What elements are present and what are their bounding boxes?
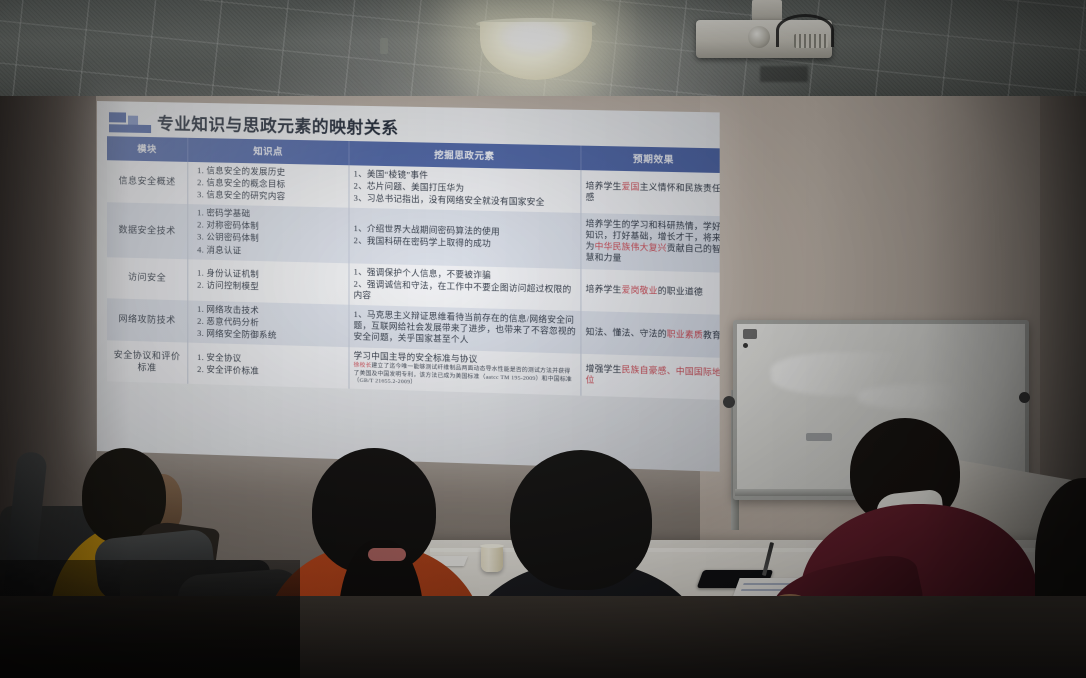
ceiling-hook — [380, 38, 388, 54]
scene-vignette — [0, 96, 1086, 596]
ceiling-projector-icon — [690, 0, 842, 56]
ceiling-patch — [760, 66, 808, 82]
meeting-room-scene: 专业知识与思政元素的映射关系 模块 知识点 挖掘思政元素 预期效果 信息安全概述 — [0, 0, 1086, 678]
projector-lens-icon — [748, 26, 770, 48]
projector-cable — [776, 14, 834, 47]
light-hotspot — [498, 20, 572, 54]
